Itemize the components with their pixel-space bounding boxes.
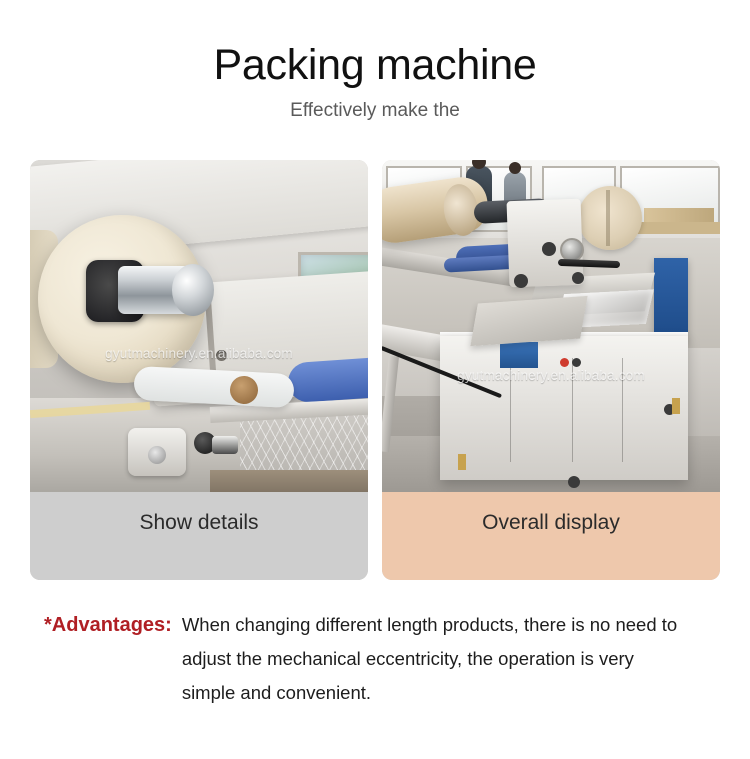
photo-scene-overall [382, 160, 720, 492]
card-caption-label: Overall display [482, 511, 620, 561]
worker-head [509, 162, 521, 174]
blue-control-panel [654, 258, 688, 342]
advantages-label: *Advantages: [44, 608, 182, 642]
leveling-foot [458, 454, 466, 470]
worker-head [472, 160, 486, 169]
image-card-show-details[interactable]: gyutmachinery.en.alibaba.com Show detail… [30, 160, 368, 580]
photo-scene-detail [30, 160, 368, 492]
emergency-stop-button [560, 358, 569, 367]
feed-plate [470, 296, 587, 346]
adjust-knob [514, 274, 528, 288]
adjust-knob [542, 242, 556, 256]
shaft-cap [172, 264, 214, 316]
card-caption-overall-display[interactable]: Overall display [382, 492, 720, 580]
advantages-text: When changing different length products,… [182, 608, 682, 710]
card-caption-label: Show details [139, 511, 258, 561]
floor [210, 470, 368, 492]
background-shelf [630, 222, 720, 234]
card-caption-show-details[interactable]: Show details [30, 492, 368, 580]
advantages-section: *Advantages: When changing different len… [44, 608, 714, 710]
product-banner: Packing machine Effectively make the [0, 0, 750, 759]
header: Packing machine Effectively make the [0, 0, 750, 123]
black-bracket [212, 436, 238, 454]
adjust-knob [572, 272, 584, 284]
caster-wheel [568, 476, 580, 488]
cabinet-door-seam [510, 358, 511, 462]
large-reel-disc [578, 186, 642, 250]
leveling-foot [672, 398, 680, 414]
blue-accent-panel [500, 342, 538, 368]
page-subtitle: Effectively make the [0, 100, 750, 123]
cabinet-door-seam [622, 358, 623, 462]
product-photo-overall: gyutmachinery.en.alibaba.com [382, 160, 720, 492]
image-card-group: gyutmachinery.en.alibaba.com Show detail… [30, 160, 720, 580]
cabinet-door-seam [572, 358, 573, 462]
control-button [572, 358, 581, 367]
frame-hole [216, 350, 227, 361]
blue-roller [287, 357, 368, 404]
image-card-overall-display[interactable]: gyutmachinery.en.alibaba.com Overall dis… [382, 160, 720, 580]
lower-roller-hub [148, 446, 166, 464]
page-title: Packing machine [0, 42, 750, 88]
product-photo-detail: gyutmachinery.en.alibaba.com [30, 160, 368, 492]
